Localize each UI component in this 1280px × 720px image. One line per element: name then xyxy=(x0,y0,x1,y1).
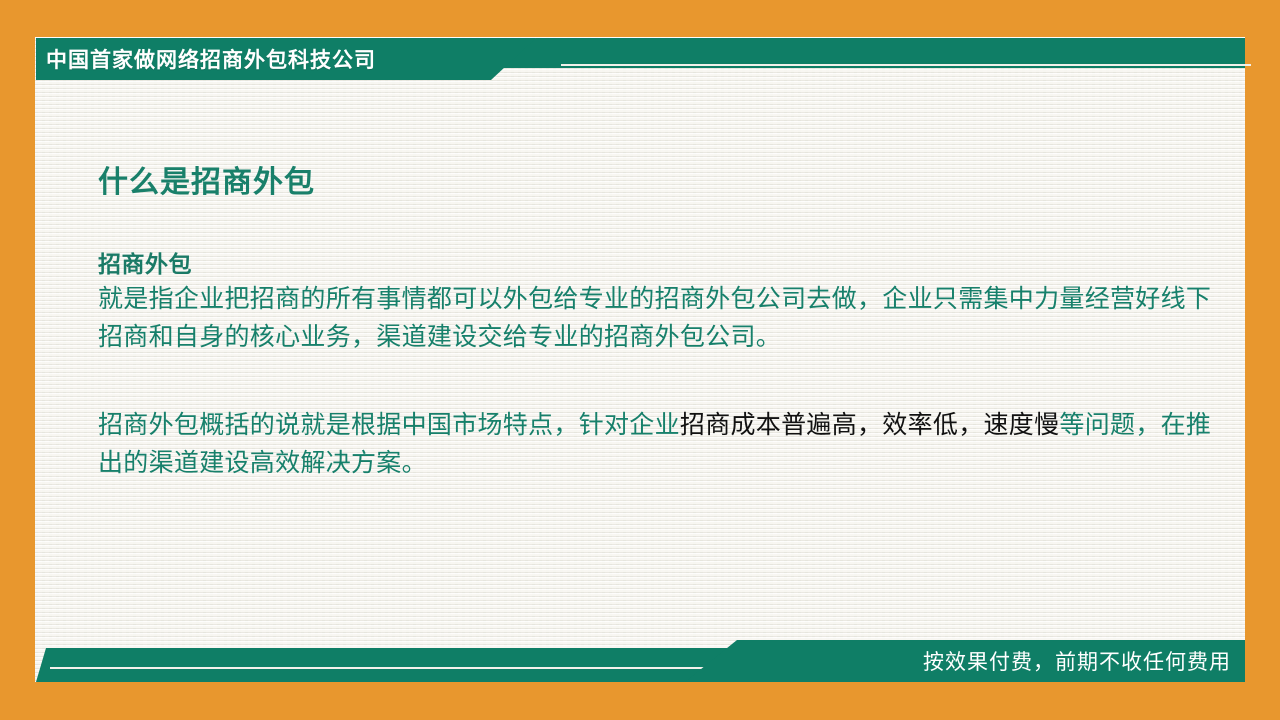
paragraph-1-subheading: 招商外包 xyxy=(98,248,1228,280)
footer-accent-bar xyxy=(36,648,796,682)
paragraph-block-2: 招商外包概括的说就是根据中国市场特点，针对企业招商成本普遍高，效率低，速度慢等问… xyxy=(98,406,1228,482)
header-title-text: 中国首家做网络招商外包科技公司 xyxy=(46,38,376,80)
paragraph-1-body: 就是指企业把招商的所有事情都可以外包给专业的招商外包公司去做，企业只需集中力量经… xyxy=(98,280,1228,356)
slide-header: 中国首家做网络招商外包科技公司 xyxy=(36,38,1245,80)
header-rule-line xyxy=(561,64,1251,66)
footer-rule-line xyxy=(50,667,750,669)
footer-tagline-text: 按效果付费，前期不收任何费用 xyxy=(923,640,1231,682)
page-title: 什么是招商外包 xyxy=(98,160,1228,206)
slide-canvas: 中国首家做网络招商外包科技公司 什么是招商外包 招商外包 就是指企业把招商的所有… xyxy=(0,0,1280,720)
slide-footer: 按效果付费，前期不收任何费用 xyxy=(36,640,1245,682)
paragraph-block-1: 招商外包 就是指企业把招商的所有事情都可以外包给专业的招商外包公司去做，企业只需… xyxy=(98,248,1228,356)
paragraph-2-segment-green-lead: 招商外包概括的说就是根据中国市场特点，针对企业 xyxy=(98,411,680,439)
slide-content: 什么是招商外包 招商外包 就是指企业把招商的所有事情都可以外包给专业的招商外包公… xyxy=(98,160,1228,482)
paragraph-2-segment-highlight: 招商成本普遍高，效率低，速度慢 xyxy=(680,411,1060,439)
